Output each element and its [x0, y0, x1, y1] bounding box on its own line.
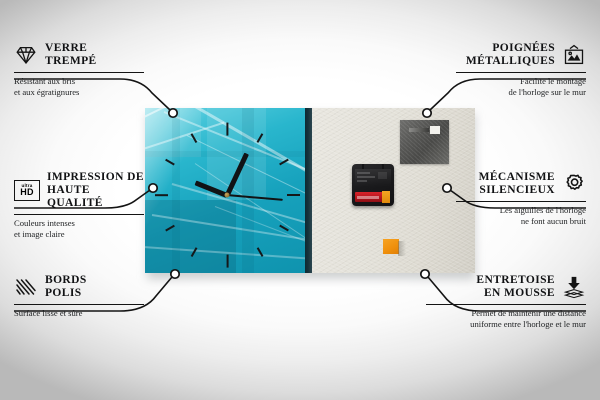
- feature-entretoise-en-mousse: ENTRETOISE EN MOUSSE Permet de maintenir…: [426, 274, 586, 329]
- feature-subtitle: Facilite le montage de l'horloge sur le …: [456, 76, 586, 97]
- feature-title: IMPRESSION DE HAUTE QUALITÉ: [47, 171, 144, 210]
- feature-rule: [426, 304, 586, 305]
- infographic-canvas: VERRE TREMPÉ Résistant aux bris et aux é…: [0, 0, 600, 400]
- feature-rule: [456, 201, 586, 202]
- ultra-hd-icon-bottom: HD: [20, 188, 33, 197]
- feature-mecanisme-silencieux: MÉCANISME SILENCIEUX Les aiguilles de l'…: [456, 171, 586, 226]
- feature-rule: [14, 214, 144, 215]
- polished-edges-icon: [14, 275, 38, 299]
- feature-rule: [14, 304, 144, 305]
- feature-poignees-metalliques: POIGNÉES MÉTALLIQUES Facilite le montage…: [456, 42, 586, 97]
- feature-title: ENTRETOISE EN MOUSSE: [476, 274, 555, 300]
- gear-icon: [562, 172, 586, 196]
- feature-title: MÉCANISME SILENCIEUX: [479, 171, 555, 197]
- feature-title: POIGNÉES MÉTALLIQUES: [466, 42, 555, 68]
- feature-subtitle: Surface lisse et sûre: [14, 308, 144, 318]
- feature-bords-polis: BORDS POLIS Surface lisse et sûre: [14, 274, 144, 319]
- feature-title: BORDS POLIS: [45, 274, 87, 300]
- feature-subtitle: Permet de maintenir une distance uniform…: [426, 308, 586, 329]
- diamond-icon: [14, 43, 38, 67]
- feature-impression-haute-qualite: ultra HD IMPRESSION DE HAUTE QUALITÉ Cou…: [14, 171, 144, 239]
- picture-hanger-icon: [562, 43, 586, 67]
- feature-subtitle: Résistant aux bris et aux égratignures: [14, 76, 144, 97]
- feature-subtitle: Couleurs intenses et image claire: [14, 218, 144, 239]
- foam-spacer-icon: [562, 275, 586, 299]
- feature-verre-trempe: VERRE TREMPÉ Résistant aux bris et aux é…: [14, 42, 144, 97]
- feature-rule: [456, 72, 586, 73]
- feature-title: VERRE TREMPÉ: [45, 42, 97, 68]
- ultra-hd-icon: ultra HD: [14, 180, 40, 201]
- feature-subtitle: Les aiguilles de l'horloge ne font aucun…: [456, 205, 586, 226]
- feature-rule: [14, 72, 144, 73]
